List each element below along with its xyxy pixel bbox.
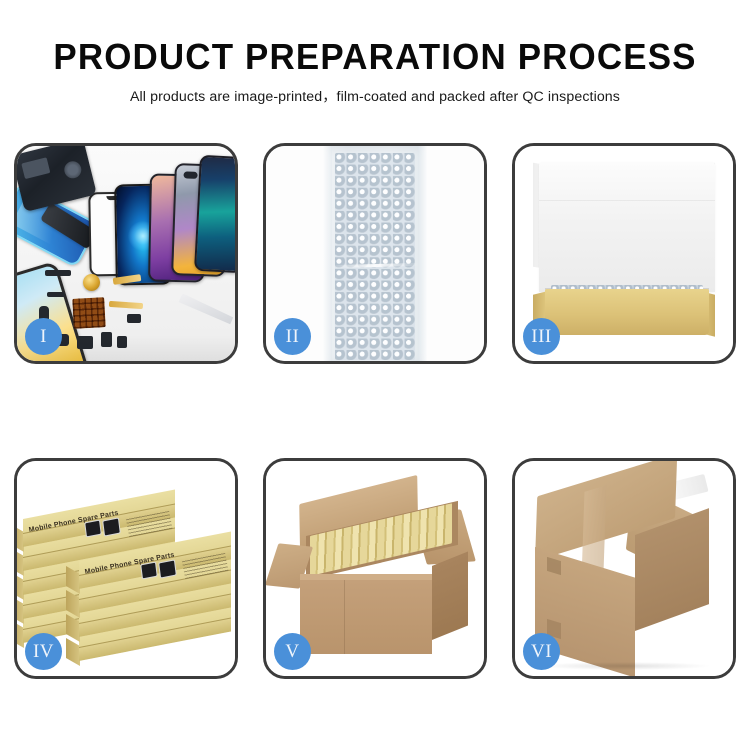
stacked-box [79,609,231,636]
step-badge-4: IV [25,633,62,670]
gold-coil-part [83,274,100,291]
step-badge-5: V [274,633,311,670]
screw-tray-grid [72,297,106,329]
step-panel-3: III [512,143,736,364]
spare-part-antenna [47,292,65,297]
spare-part-shield [127,314,141,323]
page-title: PRODUCT PREPARATION PROCESS [11,36,739,78]
wrap-edge-left [323,146,332,361]
box-label-screen-image [102,517,121,536]
header: PRODUCT PREPARATION PROCESS All products… [0,36,750,106]
box-label-screen-image [84,520,102,538]
carton-ground-shadow [541,662,709,670]
step-panel-4: Mobile Phone Spare Parts [14,458,238,679]
stacked-box-labelled: Mobile Phone Spare Parts [79,561,231,588]
step-panel-1: I [14,143,238,364]
step-badge-6: VI [523,633,560,670]
stacked-box [79,633,231,660]
steps-grid: I II [14,143,736,679]
step-panel-2: II [263,143,487,364]
teal-gradient-phone [194,155,235,273]
spare-part-strip [45,270,71,276]
step-panel-5: V [263,458,487,679]
product-preparation-infographic: PRODUCT PREPARATION PROCESS All products… [0,0,750,750]
carton-front-face [300,580,432,654]
bubble-pattern [335,153,415,360]
wrap-edge-right [418,146,427,361]
box-label-screen-image [158,559,177,578]
box-label-screen-image [140,562,158,580]
carton-seam-line [344,580,345,654]
camera-module-icon [183,171,197,178]
step-badge-1: I [25,318,62,355]
step-badge-3: III [523,318,560,355]
carton-side-right [432,551,468,640]
step-badge-2: II [274,318,311,355]
kraft-box-tray [545,289,709,335]
stacked-box-labelled: Mobile Phone Spare Parts [23,519,175,546]
box-side [66,638,80,666]
stacked-box [79,585,231,612]
step-panel-6: VI [512,458,736,679]
page-subtitle: All products are image-printed，film-coat… [0,88,750,106]
white-box-lid [539,162,715,292]
